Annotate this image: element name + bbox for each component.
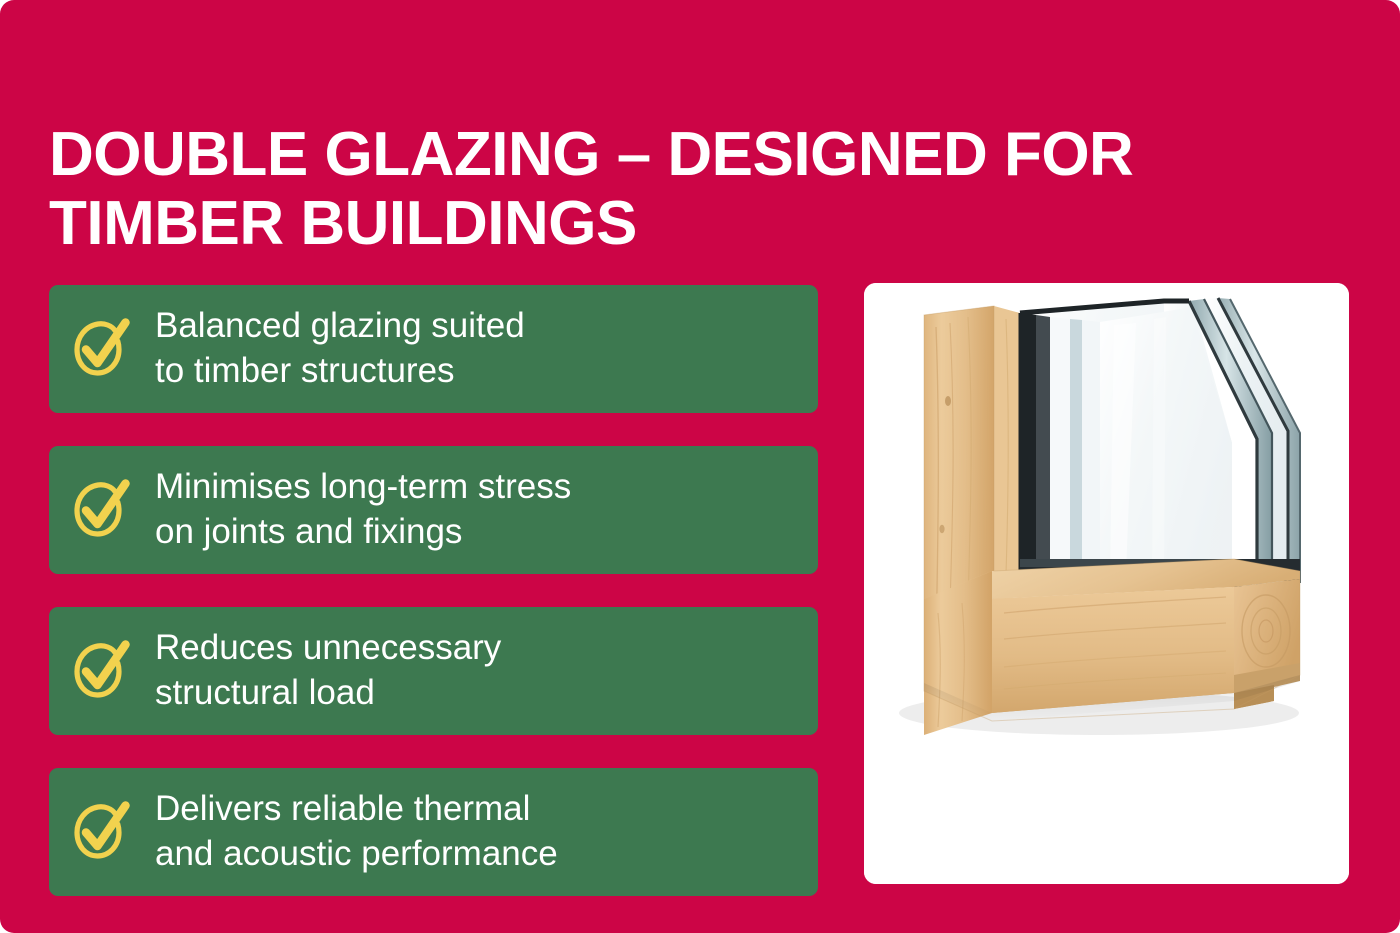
list-item: Balanced glazing suited to timber struct… — [49, 285, 818, 413]
list-item-label: Minimises long-term stress on joints and… — [155, 465, 571, 555]
check-circle-icon — [71, 638, 133, 704]
list-item-label: Balanced glazing suited to timber struct… — [155, 304, 525, 394]
list-item-label: Delivers reliable thermal and acoustic p… — [155, 787, 558, 877]
list-item: Delivers reliable thermal and acoustic p… — [49, 768, 818, 896]
check-circle-icon — [71, 316, 133, 382]
benefits-list: Balanced glazing suited to timber struct… — [49, 285, 818, 896]
check-circle-icon — [71, 799, 133, 865]
page-title: DOUBLE GLAZING – DESIGNED FOR TIMBER BUI… — [49, 120, 1349, 259]
list-item: Reduces unnecessary structural load — [49, 607, 818, 735]
product-image-card — [864, 283, 1349, 884]
list-item: Minimises long-term stress on joints and… — [49, 446, 818, 574]
check-circle-icon — [71, 477, 133, 543]
timber-double-glazed-window-cross-section-illustration — [864, 283, 1349, 884]
infographic-poster: DOUBLE GLAZING – DESIGNED FOR TIMBER BUI… — [0, 0, 1400, 933]
list-item-label: Reduces unnecessary structural load — [155, 626, 501, 716]
